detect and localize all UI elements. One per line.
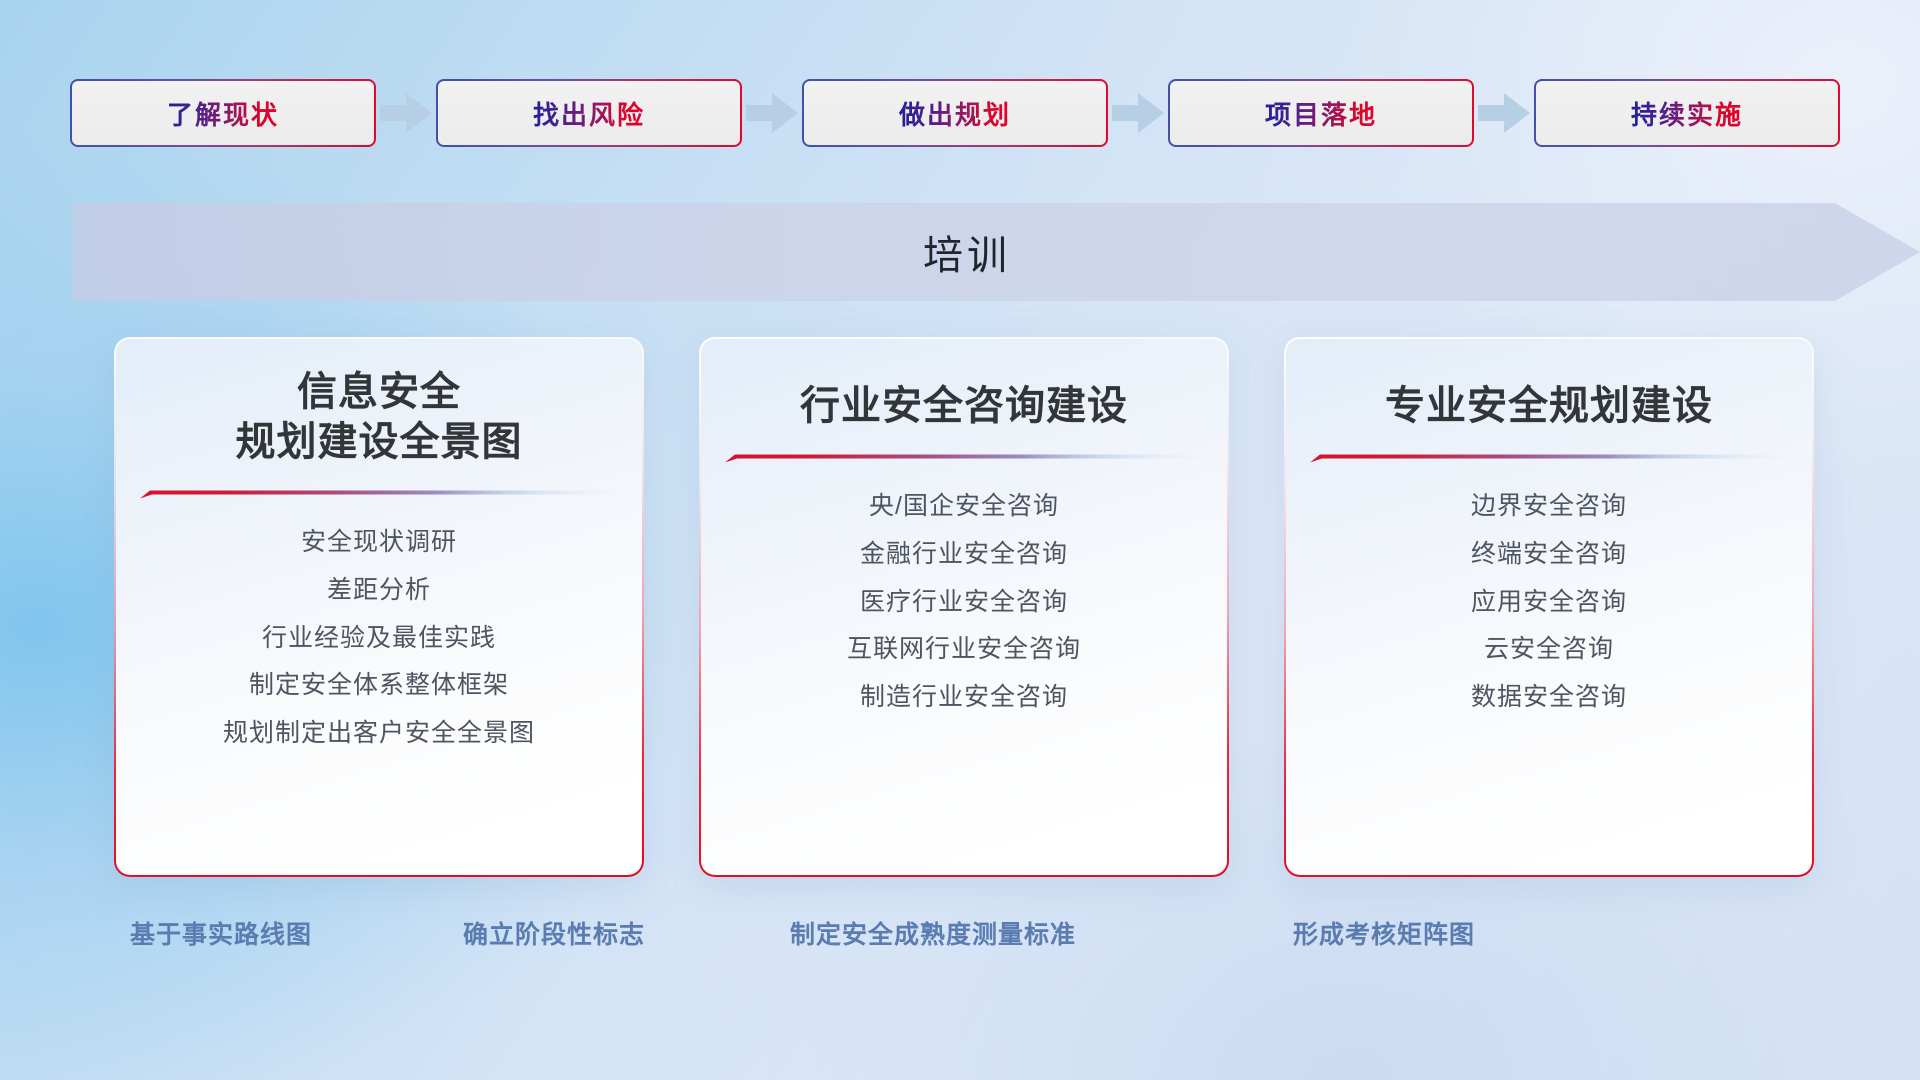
list-item: 行业经验及最佳实践	[262, 619, 496, 658]
process-step-row: 了解现状找出风险做出规划项目落地持续实施	[70, 78, 1860, 148]
service-card-2[interactable]: 行业安全咨询建设央/国企安全咨询金融行业安全咨询医疗行业安全咨询互联网行业安全咨…	[699, 337, 1229, 877]
service-card-list: 安全现状调研差距分析行业经验及最佳实践制定安全体系整体框架规划制定出客户安全全景…	[140, 523, 618, 753]
process-step-3[interactable]: 做出规划	[802, 79, 1108, 147]
service-card-body: 行业安全咨询建设央/国企安全咨询金融行业安全咨询医疗行业安全咨询互联网行业安全咨…	[701, 339, 1227, 875]
list-item: 医疗行业安全咨询	[860, 583, 1068, 622]
list-item: 金融行业安全咨询	[860, 535, 1068, 574]
process-step-4[interactable]: 项目落地	[1168, 79, 1474, 147]
list-item: 差距分析	[327, 571, 431, 610]
process-step-label: 项目落地	[1265, 95, 1377, 132]
outcome-caption-3: 制定安全成熟度测量标准	[790, 915, 1076, 951]
list-item: 安全现状调研	[301, 523, 457, 562]
process-step-label: 了解现状	[167, 95, 279, 132]
list-item: 制定安全体系整体框架	[249, 666, 509, 705]
card-row: 信息安全 规划建设全景图安全现状调研差距分析行业经验及最佳实践制定安全体系整体框…	[114, 337, 1814, 877]
service-card-title: 专业安全规划建设	[1310, 381, 1788, 431]
slide-canvas: 了解现状找出风险做出规划项目落地持续实施 培训 信息安全 规划建设全景图安全现状…	[0, 0, 1920, 1080]
list-item: 制造行业安全咨询	[860, 678, 1068, 717]
service-card-body: 专业安全规划建设边界安全咨询终端安全咨询应用安全咨询云安全咨询数据安全咨询	[1286, 339, 1812, 875]
arrow-right-icon	[1108, 91, 1168, 135]
list-item: 规划制定出客户安全全景图	[223, 714, 535, 753]
outcome-caption-1: 基于事实路线图	[130, 915, 312, 951]
process-step-body: 找出风险	[438, 81, 740, 145]
list-item: 边界安全咨询	[1471, 487, 1627, 526]
arrow-right-icon	[742, 91, 802, 135]
outcome-caption-4: 形成考核矩阵图	[1293, 915, 1475, 951]
service-card-3[interactable]: 专业安全规划建设边界安全咨询终端安全咨询应用安全咨询云安全咨询数据安全咨询	[1284, 337, 1814, 877]
process-step-body: 做出规划	[804, 81, 1106, 145]
card-accent-divider	[1310, 451, 1788, 465]
service-card-list: 央/国企安全咨询金融行业安全咨询医疗行业安全咨询互联网行业安全咨询制造行业安全咨…	[725, 487, 1203, 717]
process-step-label: 找出风险	[533, 95, 645, 132]
outcome-caption-2: 确立阶段性标志	[463, 915, 645, 951]
training-banner: 培训	[72, 203, 1920, 301]
process-step-label: 做出规划	[899, 95, 1011, 132]
list-item: 互联网行业安全咨询	[847, 630, 1081, 669]
process-step-body: 项目落地	[1170, 81, 1472, 145]
process-step-label: 持续实施	[1631, 95, 1743, 132]
arrow-right-icon	[376, 91, 436, 135]
card-accent-divider	[140, 487, 618, 501]
list-item: 央/国企安全咨询	[869, 487, 1059, 526]
service-card-body: 信息安全 规划建设全景图安全现状调研差距分析行业经验及最佳实践制定安全体系整体框…	[116, 339, 642, 875]
list-item: 云安全咨询	[1484, 630, 1614, 669]
list-item: 数据安全咨询	[1471, 678, 1627, 717]
service-card-title: 行业安全咨询建设	[725, 381, 1203, 431]
list-item: 应用安全咨询	[1471, 583, 1627, 622]
arrow-right-icon	[1474, 91, 1534, 135]
process-step-5[interactable]: 持续实施	[1534, 79, 1840, 147]
caption-row: 基于事实路线图确立阶段性标志制定安全成熟度测量标准形成考核矩阵图	[0, 915, 1920, 961]
process-step-1[interactable]: 了解现状	[70, 79, 376, 147]
service-card-1[interactable]: 信息安全 规划建设全景图安全现状调研差距分析行业经验及最佳实践制定安全体系整体框…	[114, 337, 644, 877]
banner-arrow-right-icon	[72, 203, 1920, 301]
card-accent-divider	[725, 451, 1203, 465]
process-step-body: 了解现状	[72, 81, 374, 145]
service-card-list: 边界安全咨询终端安全咨询应用安全咨询云安全咨询数据安全咨询	[1310, 487, 1788, 717]
list-item: 终端安全咨询	[1471, 535, 1627, 574]
process-step-body: 持续实施	[1536, 81, 1838, 145]
process-step-2[interactable]: 找出风险	[436, 79, 742, 147]
service-card-title: 信息安全 规划建设全景图	[140, 367, 618, 467]
